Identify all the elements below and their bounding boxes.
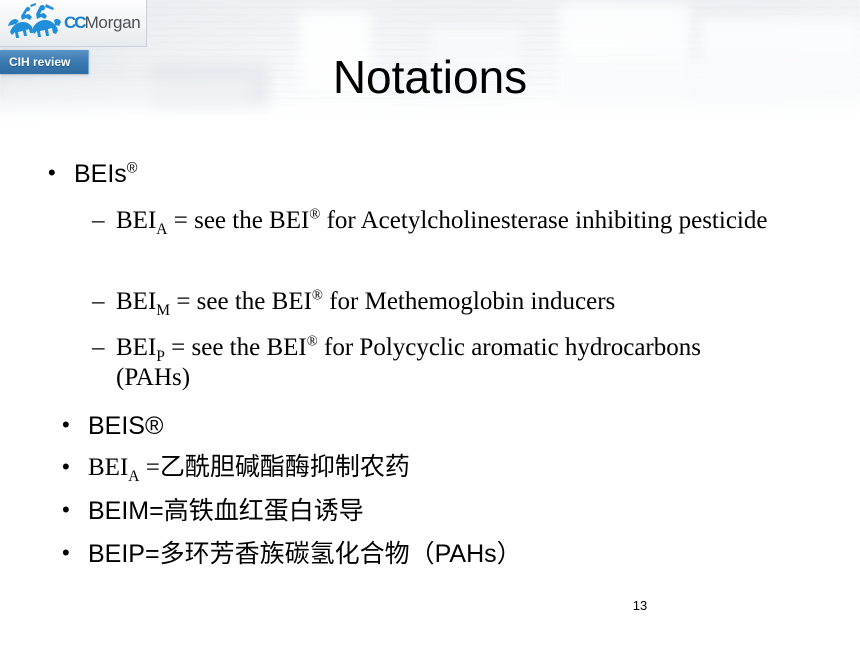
bullet-subscript: A [156,221,167,238]
bullet-bei-p-cn: • BEIP=多环芳香族碳氢化合物（PAHs） [62,540,522,568]
bullet-text: BEIS® [88,412,163,440]
bullet-bei-a: – BEIA = see the BEI® for Acetylcholines… [92,206,792,236]
bullet-text: BEIA =乙酰胆碱酯酶抑制农药 [88,454,410,482]
bullet-text: BEIP=多环芳香族碳氢化合物（PAHs） [88,540,522,568]
bullet-bei-m-cn: • BEIM=高铁血红蛋白诱导 [62,497,364,525]
bullet-prefix: BEI [116,288,156,315]
bullet-text: BEIM=高铁血红蛋白诱导 [88,497,364,525]
logo-word-primary: CC [64,13,85,32]
bullet-suffix: for Methemoglobin inducers [323,288,615,315]
page-number: 13 [600,598,680,613]
bullet-beis-cn: • BEIS® [62,412,163,440]
bullet-marker: – [92,333,116,363]
slide-body: • BEIs® – BEIA = see the BEI® for Acetyl… [0,150,860,590]
bullet-suffix: for Acetylcholinesterase inhibiting pest… [320,207,767,234]
bullet-text: BEIs® [74,160,137,188]
bullet-bei-m: – BEIM = see the BEI® for Methemoglobin … [92,287,812,317]
page-title: Notations [0,50,860,104]
presentation-slide: CCMorgan CIH review Notations • BEIs® – … [0,0,860,650]
bullet-marker: • [62,540,88,566]
company-logo: CCMorgan [0,0,147,47]
logo-wordmark: CCMorgan [64,13,140,33]
registered-mark: ® [127,161,138,177]
bullet-text: BEIP = see the BEI® for Polycyclic aroma… [116,333,732,392]
bullet-marker: • [62,412,88,438]
bullet-prefix: BEI [88,454,128,481]
bullet-label: BEIs [74,160,127,188]
bullet-marker: • [62,497,88,523]
bullet-subscript: A [128,468,139,485]
bullet-prefix: BEI [116,334,156,361]
bullet-marker: – [92,206,116,236]
bullet-mid: = see the BEI [167,207,309,234]
bullet-mid: = see the BEI [170,288,312,315]
bullet-bei-p: – BEIP = see the BEI® for Polycyclic aro… [92,333,732,392]
ccmorgan-lion-rider-emblem [6,2,62,44]
bullet-suffix: =乙酰胆碱酯酶抑制农药 [139,454,409,481]
bullet-bei-a-cn: • BEIA =乙酰胆碱酯酶抑制农药 [62,454,410,482]
bullet-marker: • [48,160,74,186]
logo-word-secondary: Morgan [85,13,141,32]
registered-mark: ® [307,334,318,350]
bullet-text: BEIA = see the BEI® for Acetylcholineste… [116,206,767,236]
bullet-prefix: BEI [116,207,156,234]
registered-mark: ® [312,288,323,304]
bullet-mid: = see the BEI [165,334,307,361]
bullet-marker: • [62,454,88,480]
registered-mark: ® [309,207,320,223]
bullet-text: BEIM = see the BEI® for Methemoglobin in… [116,287,615,317]
bullet-beis: • BEIs® [48,160,137,188]
bullet-subscript: M [156,302,170,319]
bullet-marker: – [92,287,116,317]
bullet-subscript: P [156,348,165,365]
